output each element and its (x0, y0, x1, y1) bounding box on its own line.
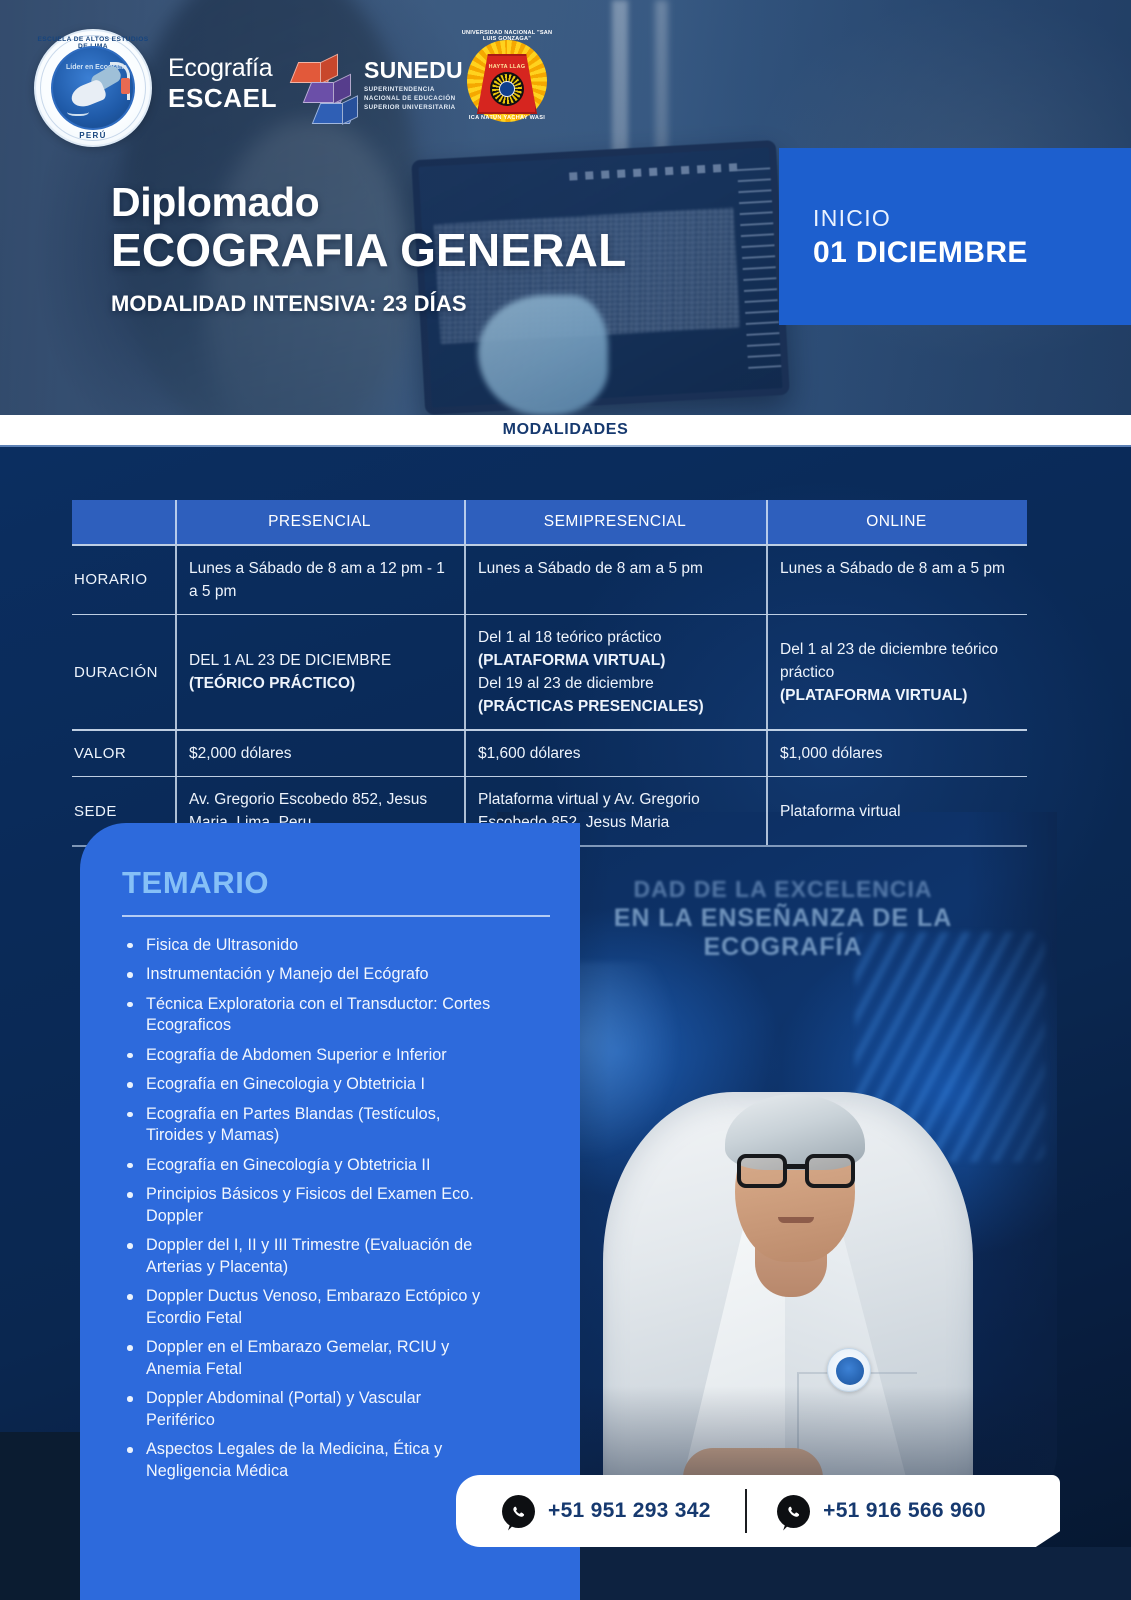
escael-ring-bottom-text: PERÚ (34, 131, 152, 140)
hero-title: ECOGRAFIA GENERAL (111, 224, 626, 277)
duracion-semi-normal-1: Del 1 al 18 teórico práctico (478, 626, 752, 649)
flyer-page: ESCUELA DE ALTOS ESTUDIOS DE LIMA PERÚ L… (0, 0, 1131, 1600)
bottom-right-strip (580, 1547, 1131, 1600)
probe-connector-icon (121, 78, 130, 94)
cell-sede-online: Plataforma virtual (766, 777, 1027, 845)
unica-ring-bottom-text: ICA NATUN YACHAY WASI (458, 115, 556, 121)
photo-edge-fade (497, 812, 1057, 1512)
escael-logo: ESCUELA DE ALTOS ESTUDIOS DE LIMA PERÚ L… (34, 29, 152, 147)
cell-valor-presencial: $2,000 dólares (175, 731, 464, 776)
modalidades-table: PRESENCIAL SEMIPRESENCIAL ONLINE HORARIO… (72, 500, 1027, 847)
table-row-horario: HORARIO Lunes a Sábado de 8 am a 12 pm -… (72, 546, 1027, 614)
temario-title: TEMARIO (122, 865, 550, 901)
list-item: Fisica de Ultrasonido (122, 935, 494, 957)
modalidades-band-title: MODALIDADES (503, 421, 629, 439)
cell-horario-presencial: Lunes a Sábado de 8 am a 12 pm - 1 a 5 p… (175, 546, 464, 614)
table-row-valor: VALOR $2,000 dólares $1,600 dólares $1,0… (72, 731, 1027, 776)
sound-wave-icon (67, 106, 89, 116)
cell-valor-semipresencial: $1,600 dólares (464, 731, 766, 776)
column-header-online: ONLINE (766, 500, 1027, 544)
cell-duracion-semipresencial: Del 1 al 18 teórico práctico (PLATAFORMA… (464, 615, 766, 729)
table-corner-cell (72, 500, 175, 544)
whatsapp-icon[interactable] (777, 1495, 810, 1528)
duracion-semi-bold-2: (PRÁCTICAS PRESENCIALES) (478, 698, 704, 715)
list-item: Ecografía en Ginecología y Obtetricia II (122, 1155, 494, 1177)
sunedu-cubes-icon (294, 62, 356, 128)
contact-divider (745, 1489, 747, 1533)
duracion-online-bold: (PLATAFORMA VIRTUAL) (780, 687, 967, 704)
row-label-valor: VALOR (72, 731, 175, 776)
column-header-semipresencial: SEMIPRESENCIAL (464, 500, 766, 544)
list-item: Instrumentación y Manejo del Ecógrafo (122, 964, 494, 986)
list-item: Ecografía en Ginecologia y Obtetricia I (122, 1074, 494, 1096)
list-item: Ecografía en Partes Blandas (Testículos,… (122, 1104, 494, 1147)
unica-ring-top-text: UNIVERSIDAD NACIONAL "SAN LUIS GONZAGA" (458, 30, 556, 42)
row-label-duracion: DURACIÓN (72, 615, 175, 729)
duracion-semi-normal-2: Del 19 al 23 de diciembre (478, 672, 752, 695)
list-item: Técnica Exploratoria con el Transductor:… (122, 994, 494, 1037)
list-item: Doppler del I, II y III Trimestre (Evalu… (122, 1235, 494, 1278)
duracion-online-normal: Del 1 al 23 de diciembre teórico práctic… (780, 638, 1013, 684)
brand-line-2: ESCAEL (168, 85, 277, 112)
logo-row: ESCUELA DE ALTOS ESTUDIOS DE LIMA PERÚ L… (0, 0, 1131, 150)
start-date-label: INICIO (813, 205, 1131, 232)
bottom-left-strip (0, 1432, 80, 1600)
contact-phone-1[interactable]: +51 951 293 342 (502, 1495, 711, 1528)
sunedu-title: SUNEDU (364, 58, 463, 82)
list-item: Aspectos Legales de la Medicina, Ética y… (122, 1439, 494, 1482)
list-item: Ecografía de Abdomen Superior e Inferior (122, 1045, 494, 1067)
temario-divider (122, 915, 550, 917)
instructor-photo: DAD DE LA EXCELENCIA EN LA ENSEÑANZA DE … (497, 812, 1057, 1512)
phone-number-2[interactable]: +51 916 566 960 (823, 1499, 986, 1523)
unica-core-icon (499, 81, 515, 97)
contact-band: +51 951 293 342 +51 916 566 960 (456, 1475, 1060, 1547)
duracion-presencial-normal: DEL 1 AL 23 DE DICIEMBRE (189, 649, 391, 672)
list-item: Doppler Ductus Venoso, Embarazo Ectópico… (122, 1286, 494, 1329)
list-item: Doppler en el Embarazo Gemelar, RCIU y A… (122, 1337, 494, 1380)
hero-subtitle: MODALIDAD INTENSIVA: 23 DÍAS (111, 291, 626, 317)
sunedu-logo: SUNEDU SUPERINTENDENCIA NACIONAL DE EDUC… (294, 58, 434, 134)
duracion-semi-bold-1: (PLATAFORMA VIRTUAL) (478, 652, 665, 669)
cell-duracion-online: Del 1 al 23 de diciembre teórico práctic… (766, 615, 1027, 729)
escael-logo-inner: Líder en Ecografía (51, 46, 135, 130)
cell-horario-semipresencial: Lunes a Sábado de 8 am a 5 pm (464, 546, 766, 614)
unica-logo: UNIVERSIDAD NACIONAL "SAN LUIS GONZAGA" … (458, 30, 556, 135)
unica-ring-mid-text: HAYTA LLAG (458, 64, 556, 70)
sunedu-text-block: SUNEDU SUPERINTENDENCIA NACIONAL DE EDUC… (364, 58, 463, 112)
phone-number-1[interactable]: +51 951 293 342 (548, 1499, 711, 1523)
cell-horario-online: Lunes a Sábado de 8 am a 5 pm (766, 546, 1027, 614)
cell-duracion-presencial: DEL 1 AL 23 DE DICIEMBRE (TEÓRICO PRÁCTI… (175, 615, 464, 729)
contact-phone-2[interactable]: +51 916 566 960 (777, 1495, 986, 1528)
row-label-horario: HORARIO (72, 546, 175, 614)
modalidades-band-rule (0, 445, 1131, 447)
duracion-presencial-bold: (TEÓRICO PRÁCTICO) (189, 675, 355, 692)
hero-heading-block: Diplomado ECOGRAFIA GENERAL MODALIDAD IN… (111, 178, 626, 317)
hero-kicker: Diplomado (111, 178, 626, 226)
column-header-presencial: PRESENCIAL (175, 500, 464, 544)
cell-valor-online: $1,000 dólares (766, 731, 1027, 776)
escael-brand-name: Ecografía ESCAEL (168, 56, 277, 111)
sunedu-subtitle: SUPERINTENDENCIA NACIONAL DE EDUCACIÓN S… (364, 85, 463, 112)
modalidades-band: MODALIDADES (0, 415, 1131, 445)
whatsapp-icon[interactable] (502, 1495, 535, 1528)
table-row-duracion: DURACIÓN DEL 1 AL 23 DE DICIEMBRE (TEÓRI… (72, 615, 1027, 729)
temario-list: Fisica de Ultrasonido Instrumentación y … (122, 935, 550, 1483)
list-item: Doppler Abdominal (Portal) y Vascular Pe… (122, 1388, 494, 1431)
start-date-box: INICIO 01 DICIEMBRE (779, 148, 1131, 325)
start-date-value: 01 DICIEMBRE (813, 234, 1131, 272)
brand-line-1: Ecografía (168, 56, 277, 82)
list-item: Principios Básicos y Fisicos del Examen … (122, 1184, 494, 1227)
table-header-row: PRESENCIAL SEMIPRESENCIAL ONLINE (72, 500, 1027, 544)
